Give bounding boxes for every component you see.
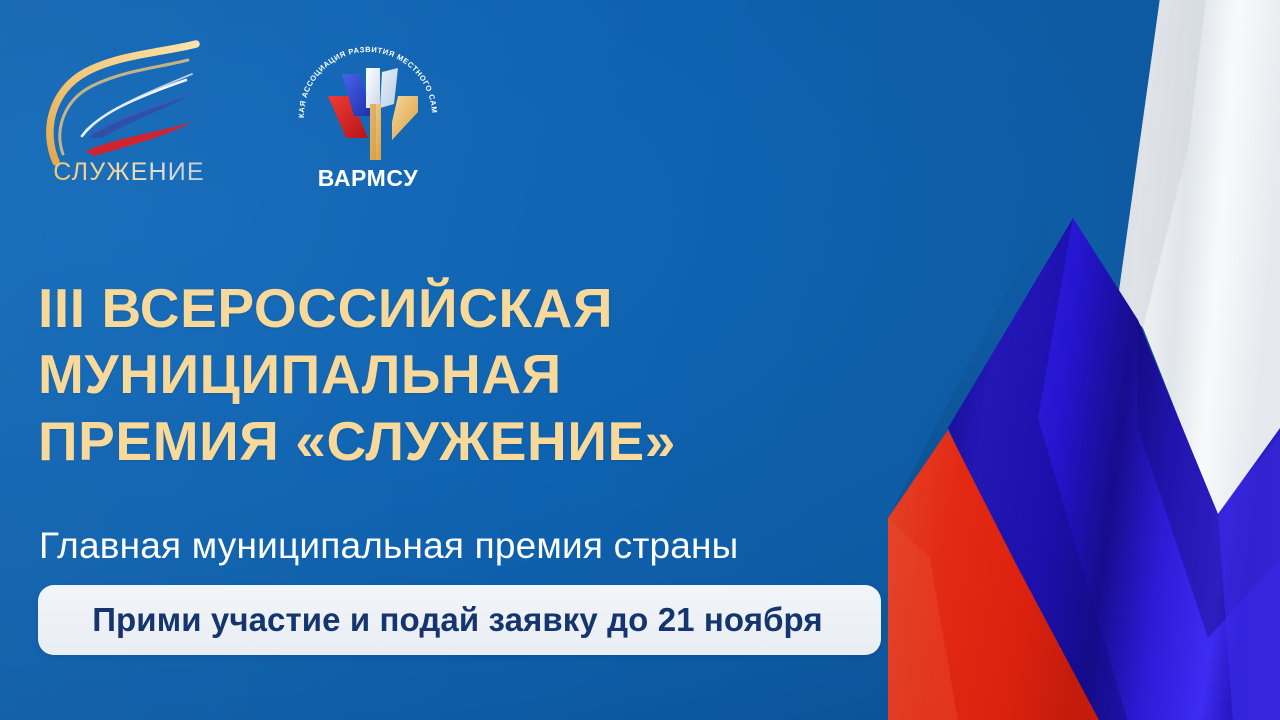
sluzhenie-logo: СЛУЖЕНИЕ	[36, 34, 222, 186]
apply-cta-button[interactable]: Прими участие и подай заявку до 21 ноябр…	[38, 585, 881, 655]
promo-poster: СЛУЖЕНИЕ	[0, 0, 1280, 720]
page-subtitle: Главная муниципальная премия страны	[39, 524, 738, 568]
apply-cta-label: Прими участие и подай заявку до 21 ноябр…	[92, 601, 827, 639]
varmsu-logo: ВСЕРОССИЙСКАЯ АССОЦИАЦИЯ РАЗВИТИЯ МЕСТНО…	[282, 34, 454, 192]
russian-flag-image	[888, 0, 1280, 720]
page-title: III ВСЕРОССИЙСКАЯ МУНИЦИПАЛЬНАЯ ПРЕМИЯ «…	[38, 275, 878, 475]
svg-text:СЛУЖЕНИЕ: СЛУЖЕНИЕ	[53, 158, 205, 186]
svg-text:ВАРМСУ: ВАРМСУ	[318, 165, 419, 191]
logo-row: СЛУЖЕНИЕ	[36, 34, 454, 192]
